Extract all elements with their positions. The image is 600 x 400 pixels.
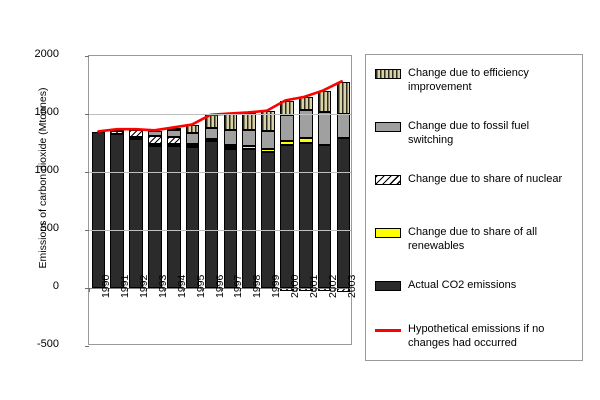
y-axis-tick-labels: 2000150010005000-500 <box>15 0 59 400</box>
red-line-swatch <box>375 325 401 335</box>
black-fill-swatch <box>375 281 401 291</box>
legend-item-actual[interactable]: Actual CO2 emissions <box>375 279 576 293</box>
x-tick-label: 1997 <box>233 275 244 298</box>
x-tick-label: 1999 <box>271 275 282 298</box>
x-tick-label: 2002 <box>328 275 339 298</box>
legend-label: Change due to efficiency improvement <box>408 67 576 94</box>
legend-item-efficiency[interactable]: Change due to efficiency improvement <box>375 67 576 94</box>
y-tick-mark <box>85 172 89 173</box>
y-tick-label: 1000 <box>19 165 59 176</box>
legend-label: Hypothetical emissions if no changes had… <box>408 323 576 350</box>
legend-item-fossil[interactable]: Change due to fossil fuel switching <box>375 120 576 147</box>
diagonal-hatch-swatch <box>375 175 401 185</box>
legend-item-renewables[interactable]: Change due to share of all renewables <box>375 226 576 253</box>
y-tick-label: 500 <box>19 223 59 234</box>
legend-item-hypothetical[interactable]: Hypothetical emissions if no changes had… <box>375 323 576 350</box>
y-tick-label: 0 <box>19 281 59 292</box>
gridline <box>89 230 351 231</box>
x-tick-label: 2000 <box>290 275 301 298</box>
legend-label: Change due to share of all renewables <box>408 226 576 253</box>
chart-legend: Change due to efficiency improvementChan… <box>365 54 583 361</box>
x-tick-mark <box>89 288 90 292</box>
legend-item-nuclear[interactable]: Change due to share of nuclear <box>375 173 576 187</box>
legend-label: Actual CO2 emissions <box>408 279 516 293</box>
x-tick-label: 1994 <box>177 275 188 298</box>
gridline <box>89 114 351 115</box>
y-tick-mark <box>85 114 89 115</box>
x-tick-label: 1990 <box>101 275 112 298</box>
x-tick-label: 1991 <box>120 275 131 298</box>
y-tick-mark <box>85 56 89 57</box>
y-tick-label: 2000 <box>19 49 59 60</box>
x-tick-label: 1992 <box>139 275 150 298</box>
chart-container: Emissions of carbon dioxide (Mtonnes) 20… <box>0 0 600 400</box>
y-tick-mark <box>85 230 89 231</box>
x-tick-label: 1993 <box>158 275 169 298</box>
gridline <box>89 172 351 173</box>
yellow-fill-swatch <box>375 228 401 238</box>
x-axis-tick-labels: 1990199119921993199419951996199719981999… <box>88 297 352 345</box>
y-tick-label: 1500 <box>19 107 59 118</box>
legend-label: Change due to fossil fuel switching <box>408 120 576 147</box>
x-tick-label: 2003 <box>347 275 358 298</box>
x-tick-label: 1996 <box>215 275 226 298</box>
y-tick-mark <box>85 346 89 347</box>
hypothetical-line-path <box>98 81 341 131</box>
gray-fill-swatch <box>375 122 401 132</box>
x-tick-label: 1995 <box>196 275 207 298</box>
x-tick-label: 2001 <box>309 275 320 298</box>
x-tick-label: 1998 <box>252 275 263 298</box>
legend-label: Change due to share of nuclear <box>408 173 562 187</box>
vertical-stripe-swatch <box>375 69 401 79</box>
y-tick-label: -500 <box>19 339 59 350</box>
